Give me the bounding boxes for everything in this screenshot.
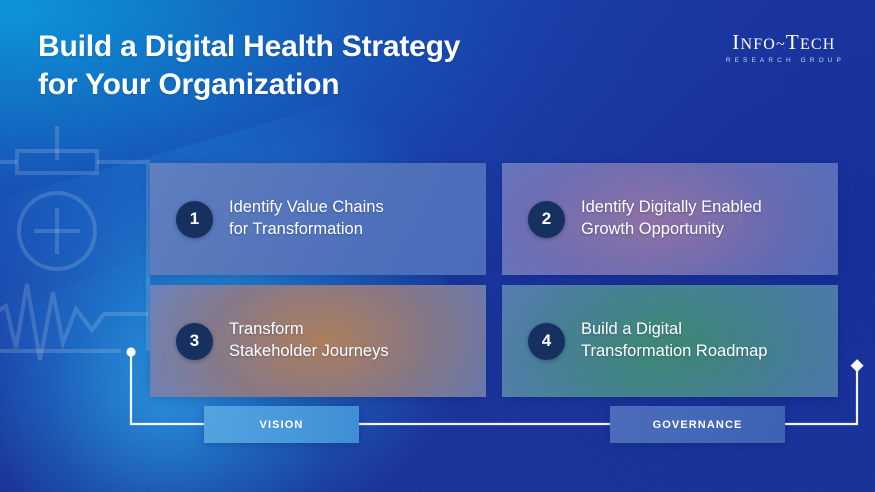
step-label-2-line-1: Identify Digitally Enabled xyxy=(581,197,762,219)
step-label-2: Identify Digitally Enabled Growth Opport… xyxy=(581,197,762,241)
card-4-content: 4 Build a Digital Transformation Roadmap xyxy=(528,319,767,363)
step-label-4-line-2: Transformation Roadmap xyxy=(581,341,767,363)
step-number-badge-1: 1 xyxy=(176,201,213,238)
logo-wordmark: INFO~TECH xyxy=(723,32,845,53)
step-label-3-line-2: Stakeholder Journeys xyxy=(229,341,389,363)
logo-tilde: ~ xyxy=(776,36,786,53)
step-number-badge-3: 3 xyxy=(176,323,213,360)
step-label-4-line-1: Build a Digital xyxy=(581,319,767,341)
steps-grid: 1 Identify Value Chains for Transformati… xyxy=(150,163,838,388)
logo-t: T xyxy=(786,30,800,54)
page-title: Build a Digital Health Strategy for Your… xyxy=(38,28,638,105)
step-card-3[interactable]: 3 Transform Stakeholder Journeys xyxy=(150,285,486,397)
step-label-4: Build a Digital Transformation Roadmap xyxy=(581,319,767,363)
step-card-4[interactable]: 4 Build a Digital Transformation Roadmap xyxy=(502,285,838,397)
card-1-content: 1 Identify Value Chains for Transformati… xyxy=(176,197,384,241)
card-3-content: 3 Transform Stakeholder Journeys xyxy=(176,319,389,363)
slide-root: Build a Digital Health Strategy for Your… xyxy=(0,0,875,492)
step-label-3: Transform Stakeholder Journeys xyxy=(229,319,389,363)
governance-chip-label: GOVERNANCE xyxy=(653,419,743,431)
vision-chip-label: VISION xyxy=(260,419,304,431)
card-2-content: 2 Identify Digitally Enabled Growth Oppo… xyxy=(528,197,762,241)
step-label-1: Identify Value Chains for Transformation xyxy=(229,197,384,241)
step-card-2[interactable]: 2 Identify Digitally Enabled Growth Oppo… xyxy=(502,163,838,275)
step-number-badge-2: 2 xyxy=(528,201,565,238)
logo-nfo: NFO xyxy=(740,36,776,53)
step-label-1-line-1: Identify Value Chains xyxy=(229,197,384,219)
vision-chip[interactable]: VISION xyxy=(204,406,359,443)
governance-chip[interactable]: GOVERNANCE xyxy=(610,406,785,443)
info-tech-logo: INFO~TECH RESEARCH GROUP xyxy=(723,32,845,64)
step-number-badge-4: 4 xyxy=(528,323,565,360)
step-label-1-line-2: for Transformation xyxy=(229,219,384,241)
step-label-3-line-1: Transform xyxy=(229,319,389,341)
step-label-2-line-2: Growth Opportunity xyxy=(581,219,762,241)
logo-subtitle: RESEARCH GROUP xyxy=(723,57,845,64)
step-card-1[interactable]: 1 Identify Value Chains for Transformati… xyxy=(150,163,486,275)
title-line-1: Build a Digital Health Strategy xyxy=(38,30,460,63)
logo-ech: ECH xyxy=(800,36,836,53)
title-line-2: for Your Organization xyxy=(38,66,638,104)
